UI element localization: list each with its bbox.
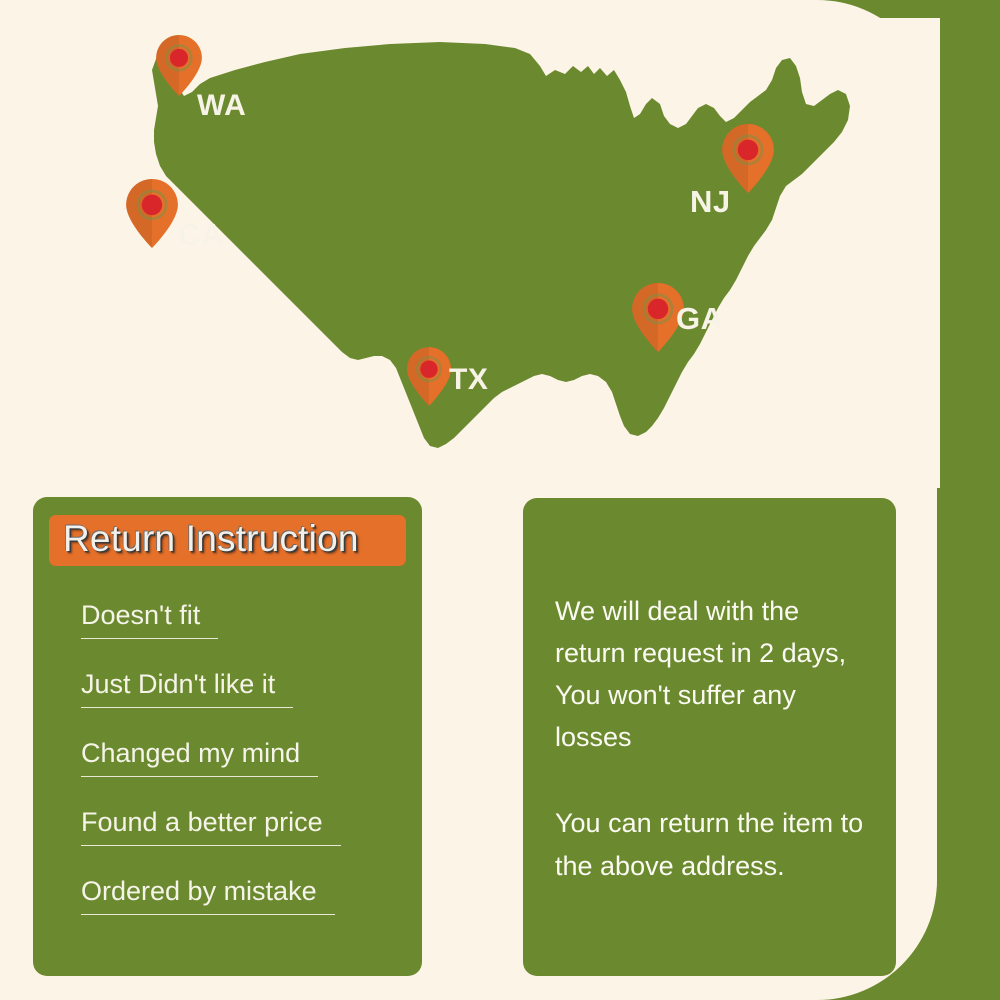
return-reason-item[interactable]: Ordered by mistake: [81, 878, 335, 915]
map-pin-label-wa: WA: [197, 91, 246, 121]
infographic-root: WACANJGATX Return Instruction Doesn't fi…: [0, 0, 1000, 1000]
paragraph-spacer: [555, 758, 866, 802]
return-reason-item[interactable]: Just Didn't like it: [81, 671, 293, 708]
return-instruction-card: Return Instruction Doesn't fit Just Didn…: [33, 497, 422, 976]
pin-center-dot: [738, 140, 758, 160]
map-pin-label-tx: TX: [449, 365, 488, 395]
return-reason-item[interactable]: Doesn't fit: [81, 602, 218, 639]
return-policy-card: We will deal with the return request in …: [523, 498, 896, 976]
map-region: WACANJGATX: [0, 0, 1000, 500]
location-pin-icon: [722, 124, 774, 193]
pin-center-dot: [648, 299, 668, 319]
location-pin-icon: [126, 179, 178, 248]
return-instruction-title: Return Instruction: [49, 515, 406, 566]
map-pin-label-ga: GA: [676, 303, 724, 334]
location-pin-icon: [407, 347, 451, 406]
map-pin-label-nj: NJ: [690, 186, 731, 217]
pin-center-dot: [170, 49, 188, 67]
map-pin-label-ca: CA: [178, 219, 224, 250]
return-reason-item[interactable]: Changed my mind: [81, 740, 318, 777]
return-reason-item[interactable]: Found a better price: [81, 809, 341, 846]
pin-center-dot: [142, 195, 162, 215]
return-policy-paragraph-1: We will deal with the return request in …: [555, 590, 866, 758]
pin-center-dot: [420, 360, 437, 377]
location-pin-icon: [156, 35, 202, 96]
return-policy-paragraph-2: You can return the item to the above add…: [555, 802, 866, 886]
